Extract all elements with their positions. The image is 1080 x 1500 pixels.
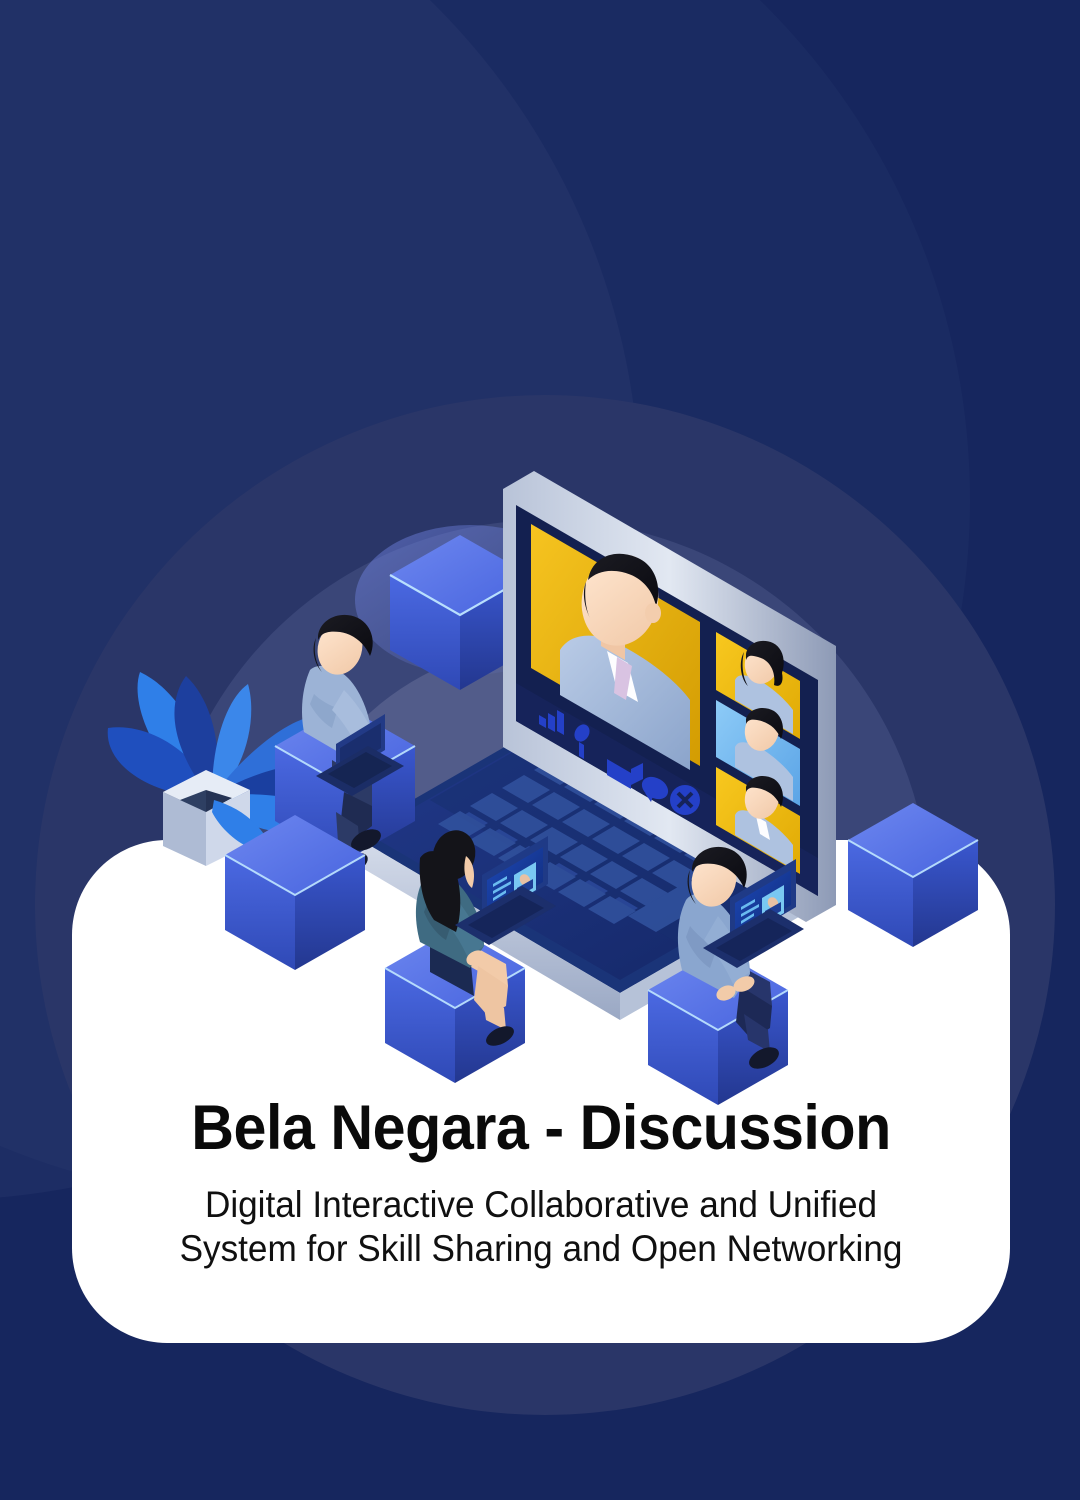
- poster-text-block: Bela Negara - Discussion Digital Interac…: [72, 1095, 1010, 1270]
- page-subtitle-line2: System for Skill Sharing and Open Networ…: [95, 1227, 986, 1271]
- end-call-icon: [670, 785, 700, 815]
- poster-canvas: Bela Negara - Discussion Digital Interac…: [0, 0, 1080, 1500]
- page-subtitle: Digital Interactive Collaborative and Un…: [95, 1183, 986, 1270]
- page-title: Bela Negara - Discussion: [100, 1095, 982, 1161]
- floating-cube-right: [848, 803, 978, 947]
- page-subtitle-line1: Digital Interactive Collaborative and Un…: [95, 1183, 986, 1227]
- hero-illustration: [0, 0, 1080, 1500]
